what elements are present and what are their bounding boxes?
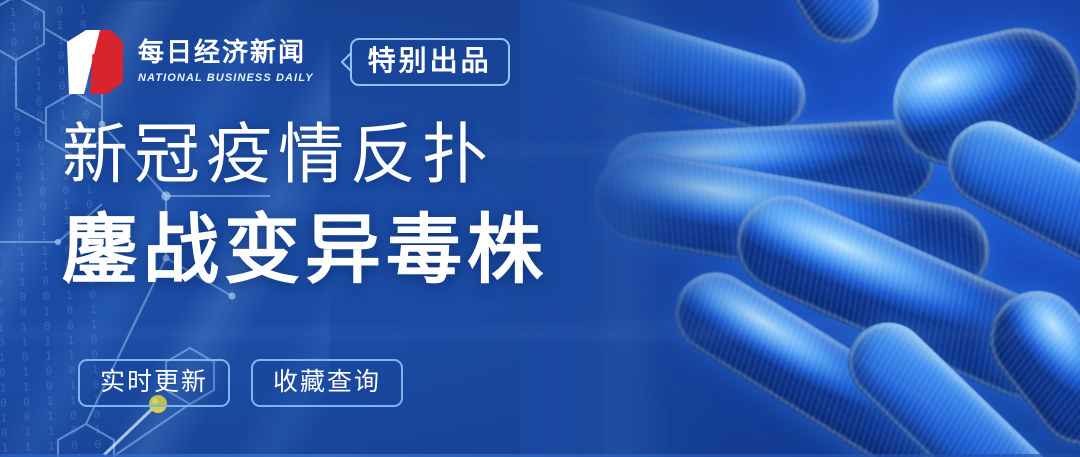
headline-line-2: 鏖战变异毒株: [62, 212, 548, 288]
covid-variant-news-banner: 1 0 1 1 0 0 1 0 0 1 1 1 0 1 0 0 0 1 1 1 …: [0, 0, 1080, 457]
bookmark-query-button[interactable]: 收藏查询: [251, 359, 403, 407]
special-edition-badge-label: 特别出品: [350, 38, 510, 86]
nbd-n-monogram-logo: [64, 28, 126, 96]
headline-line-1: 新冠疫情反扑: [62, 122, 548, 188]
brand-wordmark: 每日经济新闻 NATIONAL BUSINESS DAILY: [138, 40, 314, 84]
banner-content: 每日经济新闻 NATIONAL BUSINESS DAILY 特别出品 新冠疫情…: [0, 0, 1080, 457]
speech-bubble-tail-icon: [341, 52, 352, 72]
brand-name-cn: 每日经济新闻: [138, 40, 314, 67]
headline: 新冠疫情反扑 鏖战变异毒株: [62, 122, 548, 288]
action-buttons: 实时更新 收藏查询: [78, 359, 403, 407]
brand-name-en: NATIONAL BUSINESS DAILY: [138, 72, 314, 84]
special-edition-badge: 特别出品: [350, 38, 510, 86]
live-update-button[interactable]: 实时更新: [78, 359, 230, 407]
masthead: 每日经济新闻 NATIONAL BUSINESS DAILY 特别出品: [64, 28, 510, 96]
